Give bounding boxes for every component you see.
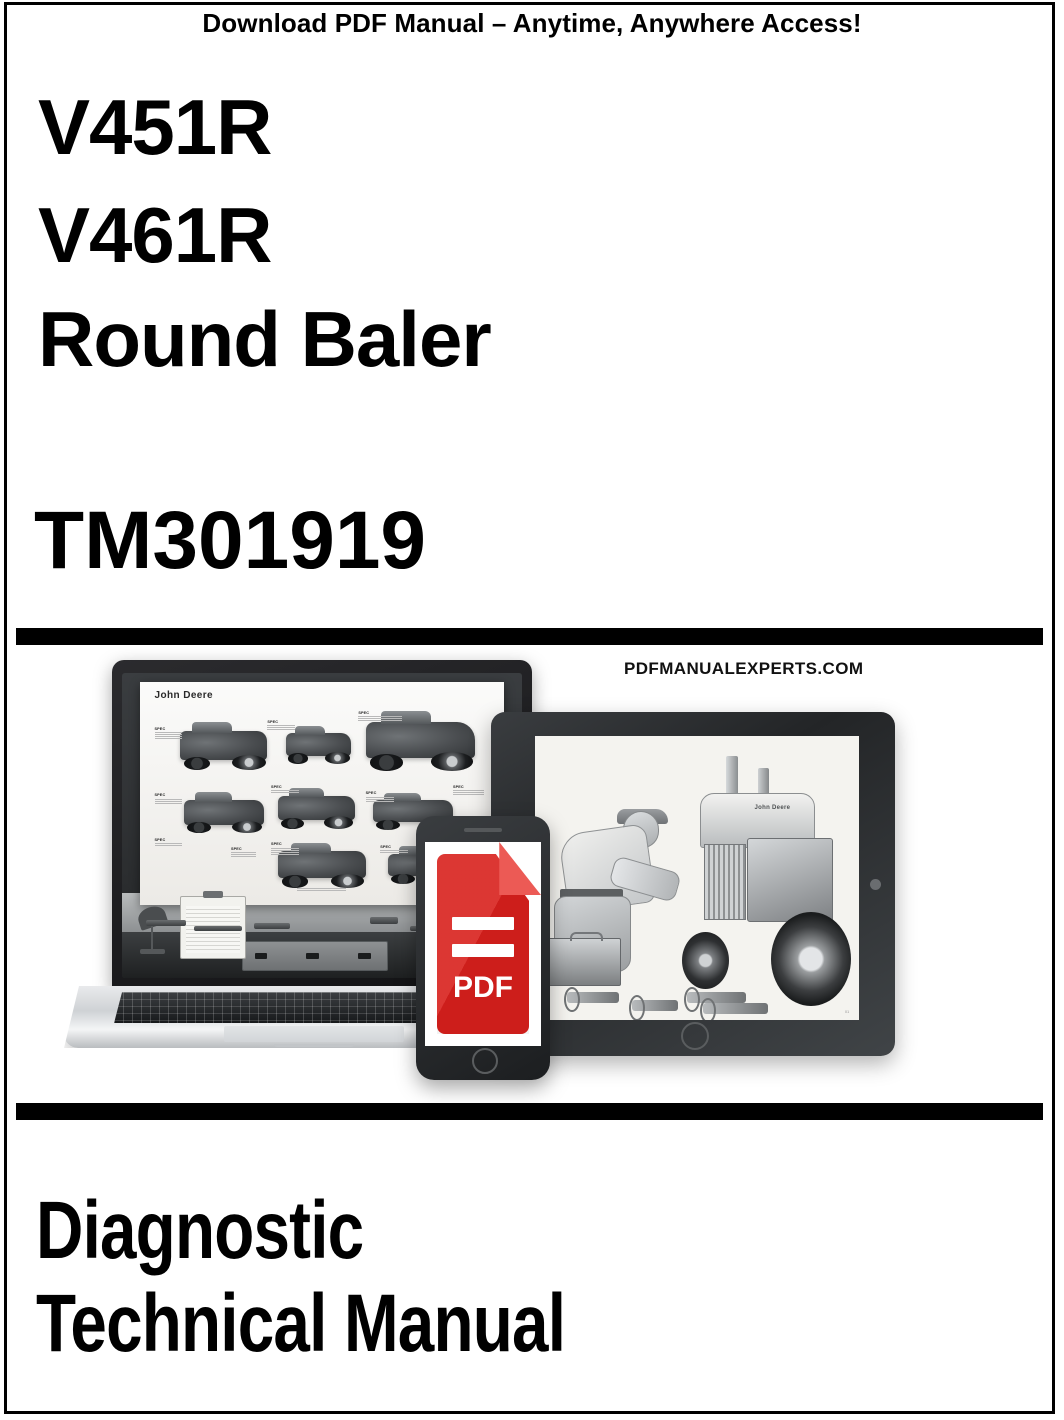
poster-caption: SPEC [366, 791, 399, 802]
workbench-drawer [242, 941, 388, 970]
pdf-label: PDF [437, 973, 529, 1003]
tractor-illustration: John Deere [671, 764, 852, 968]
tractor-illustration [286, 733, 352, 755]
tool [254, 923, 290, 928]
tool [194, 926, 242, 931]
phone-speaker [464, 828, 502, 832]
poster-footer-note [297, 887, 355, 892]
poster-caption: SPEC [231, 847, 260, 858]
manual-type-line-1: Diagnostic [36, 1190, 363, 1272]
divider-top [16, 628, 1043, 645]
wrench-icon [703, 1003, 768, 1014]
header-banner: Download PDF Manual – Anytime, Anywhere … [0, 8, 1064, 39]
laptop-latch-notch [274, 1044, 354, 1047]
poster-caption: SPEC [271, 785, 304, 794]
toolbox-illustration [548, 938, 621, 985]
manual-type-line-2: Technical Manual [36, 1283, 565, 1365]
poster-caption: SPEC [453, 785, 489, 796]
tablet-mockup: John Deere [491, 712, 895, 1056]
poster-caption: SPEC [155, 793, 188, 804]
tablet-camera [870, 879, 881, 890]
poster-caption: SPEC [155, 838, 188, 847]
poster-caption: SPEC [267, 720, 300, 731]
device-mockup-illustration: John Deere [16, 650, 1043, 1102]
tool [370, 917, 398, 924]
phone-mockup: PDF [416, 816, 550, 1080]
poster-caption: SPEC [358, 711, 409, 722]
pdf-fold-corner [499, 842, 541, 895]
wrench-icon [567, 992, 619, 1003]
tablet-screen: John Deere [535, 736, 859, 1020]
poster-brand-label: John Deere [155, 690, 213, 701]
phone-screen: PDF [425, 842, 541, 1046]
divider-bottom [16, 1103, 1043, 1120]
desk-lamp [134, 905, 170, 954]
wrench-icon [632, 1000, 677, 1011]
wrench-icon [687, 992, 745, 1003]
tractor-illustration [278, 796, 354, 820]
tractor-illustration [184, 800, 264, 824]
tractor-brand-label: John Deere [755, 805, 791, 811]
product-type-title: Round Baler [38, 300, 491, 378]
poster-caption: SPEC [271, 842, 304, 855]
combine-illustration [366, 722, 475, 758]
laptop-trackpad [224, 1026, 404, 1042]
poster-caption: SPEC [155, 727, 188, 740]
poster-caption: SPEC [380, 845, 413, 854]
phone-home-button[interactable] [472, 1048, 498, 1074]
tablet-page-number: 01 [845, 1009, 849, 1014]
model-number-primary: V451R [38, 88, 272, 166]
manual-number: TM301919 [34, 500, 426, 582]
model-number-secondary: V461R [38, 196, 272, 274]
tractor-illustration [180, 731, 267, 760]
tablet-home-button[interactable] [681, 1022, 709, 1050]
manual-cover-page: Download PDF Manual – Anytime, Anywhere … [0, 0, 1064, 1420]
tool [146, 920, 186, 926]
